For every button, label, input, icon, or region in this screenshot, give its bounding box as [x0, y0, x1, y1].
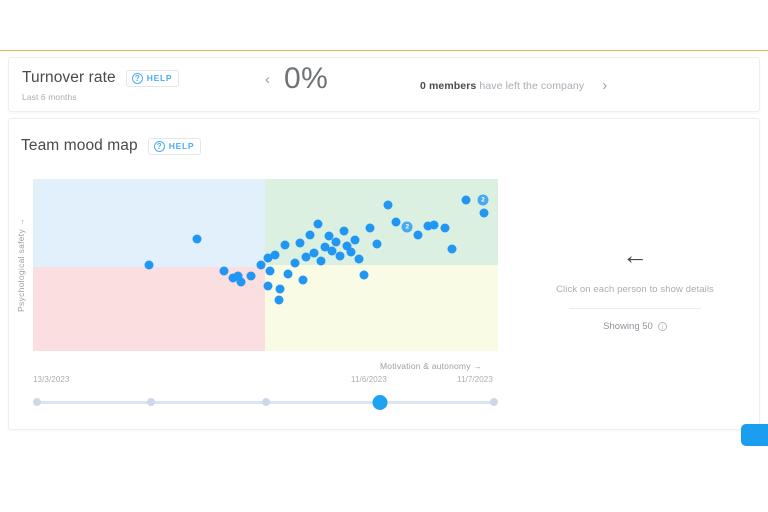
mood-point[interactable] — [298, 275, 307, 284]
timeline-slider-thumb[interactable] — [372, 395, 387, 410]
turnover-help-label: HELP — [147, 73, 172, 83]
timeline-date-label: 13/3/2023 — [33, 375, 70, 384]
turnover-members-count: 0 members — [420, 80, 476, 92]
timeline-tick[interactable] — [490, 398, 498, 406]
timeline-slider[interactable] — [33, 396, 498, 408]
turnover-header: Turnover rate ? HELP — [22, 69, 179, 87]
info-icon[interactable]: i — [658, 322, 667, 331]
mood-point[interactable] — [317, 257, 326, 266]
timeline-tick[interactable] — [262, 398, 270, 406]
mood-map-help-label: HELP — [169, 141, 194, 151]
question-circle-icon: ? — [132, 73, 143, 84]
mood-point[interactable] — [360, 270, 369, 279]
mood-point-cluster[interactable]: 2 — [402, 221, 413, 232]
mood-point[interactable] — [256, 261, 265, 270]
mood-point[interactable] — [461, 195, 470, 204]
quadrant-top-left — [33, 179, 265, 267]
mood-point[interactable] — [354, 254, 363, 263]
mood-map-plot[interactable]: 22 — [33, 179, 498, 351]
turnover-members-suffix: have left the company — [479, 80, 584, 92]
detail-panel: ← Click on each person to show details S… — [520, 242, 750, 332]
detail-divider — [569, 308, 701, 309]
turnover-subcaption: Last 6 months — [22, 92, 77, 102]
mood-point[interactable] — [271, 251, 280, 260]
turnover-help-button[interactable]: ? HELP — [126, 70, 179, 87]
detail-hint-text: Click on each person to show details — [556, 284, 714, 295]
turnover-value-group: ‹ 0% — [265, 62, 328, 96]
timeline-tick[interactable] — [33, 398, 41, 406]
arrow-left-icon: ← — [622, 242, 648, 268]
question-circle-icon: ? — [154, 141, 165, 152]
mood-point[interactable] — [309, 248, 318, 257]
x-axis-label: Motivation & autonomy → — [380, 361, 482, 371]
mood-point[interactable] — [373, 240, 382, 249]
turnover-rate-card: Turnover rate ? HELP Last 6 months — [8, 57, 760, 112]
mood-point[interactable] — [440, 224, 449, 233]
showing-count-label: Showing 50 — [603, 321, 653, 332]
turnover-members-group: 0 members have left the company › — [420, 78, 607, 93]
mood-point[interactable] — [391, 218, 400, 227]
chevron-right-icon[interactable]: › — [602, 78, 607, 93]
mood-point[interactable] — [384, 200, 393, 209]
mood-map-help-button[interactable]: ? HELP — [148, 138, 201, 155]
mood-point[interactable] — [335, 252, 344, 261]
mood-point[interactable] — [447, 245, 456, 254]
timeline-date-labels: 13/3/202311/6/202311/7/2023 — [33, 375, 498, 387]
top-divider-rule — [0, 50, 768, 51]
mood-point[interactable] — [236, 278, 245, 287]
turnover-percent: 0% — [284, 62, 328, 96]
mood-point[interactable] — [306, 231, 315, 240]
mood-point[interactable] — [295, 238, 304, 247]
mood-point[interactable] — [284, 269, 293, 278]
mood-point[interactable] — [350, 236, 359, 245]
mood-point[interactable] — [280, 241, 289, 250]
timeline-tick[interactable] — [147, 398, 155, 406]
turnover-title: Turnover rate — [22, 69, 116, 87]
mood-point[interactable] — [339, 226, 348, 235]
mood-point[interactable] — [275, 285, 284, 294]
mood-point[interactable] — [220, 267, 229, 276]
mood-point[interactable] — [414, 231, 423, 240]
mood-point[interactable] — [430, 220, 439, 229]
timeline-date-label: 11/7/2023 — [457, 375, 493, 384]
mood-map-header: Team mood map ? HELP — [21, 137, 201, 155]
mood-point[interactable] — [264, 281, 273, 290]
chevron-left-icon[interactable]: ‹ — [265, 72, 270, 87]
mood-point[interactable] — [274, 295, 283, 304]
showing-count-row: Showing 50 i — [603, 321, 667, 332]
mood-point[interactable] — [290, 258, 299, 267]
mood-point[interactable] — [332, 237, 341, 246]
mood-point[interactable] — [266, 267, 275, 276]
turnover-members-text: 0 members have left the company — [420, 80, 584, 92]
mood-point[interactable] — [193, 235, 202, 244]
mood-point-cluster[interactable]: 2 — [478, 194, 489, 205]
y-axis-label: Psychological safety → — [14, 182, 28, 348]
mood-point[interactable] — [145, 261, 154, 270]
mood-point[interactable] — [313, 220, 322, 229]
quadrant-top-right — [265, 179, 498, 265]
mood-point[interactable] — [366, 224, 375, 233]
timeline-date-label: 11/6/2023 — [351, 375, 387, 384]
mood-map-title: Team mood map — [21, 137, 138, 155]
app-root: Turnover rate ? HELP Last 6 months ‹ 0% … — [0, 0, 768, 512]
chat-support-widget[interactable] — [741, 424, 768, 446]
mood-point[interactable] — [247, 272, 256, 281]
mood-point[interactable] — [480, 209, 489, 218]
